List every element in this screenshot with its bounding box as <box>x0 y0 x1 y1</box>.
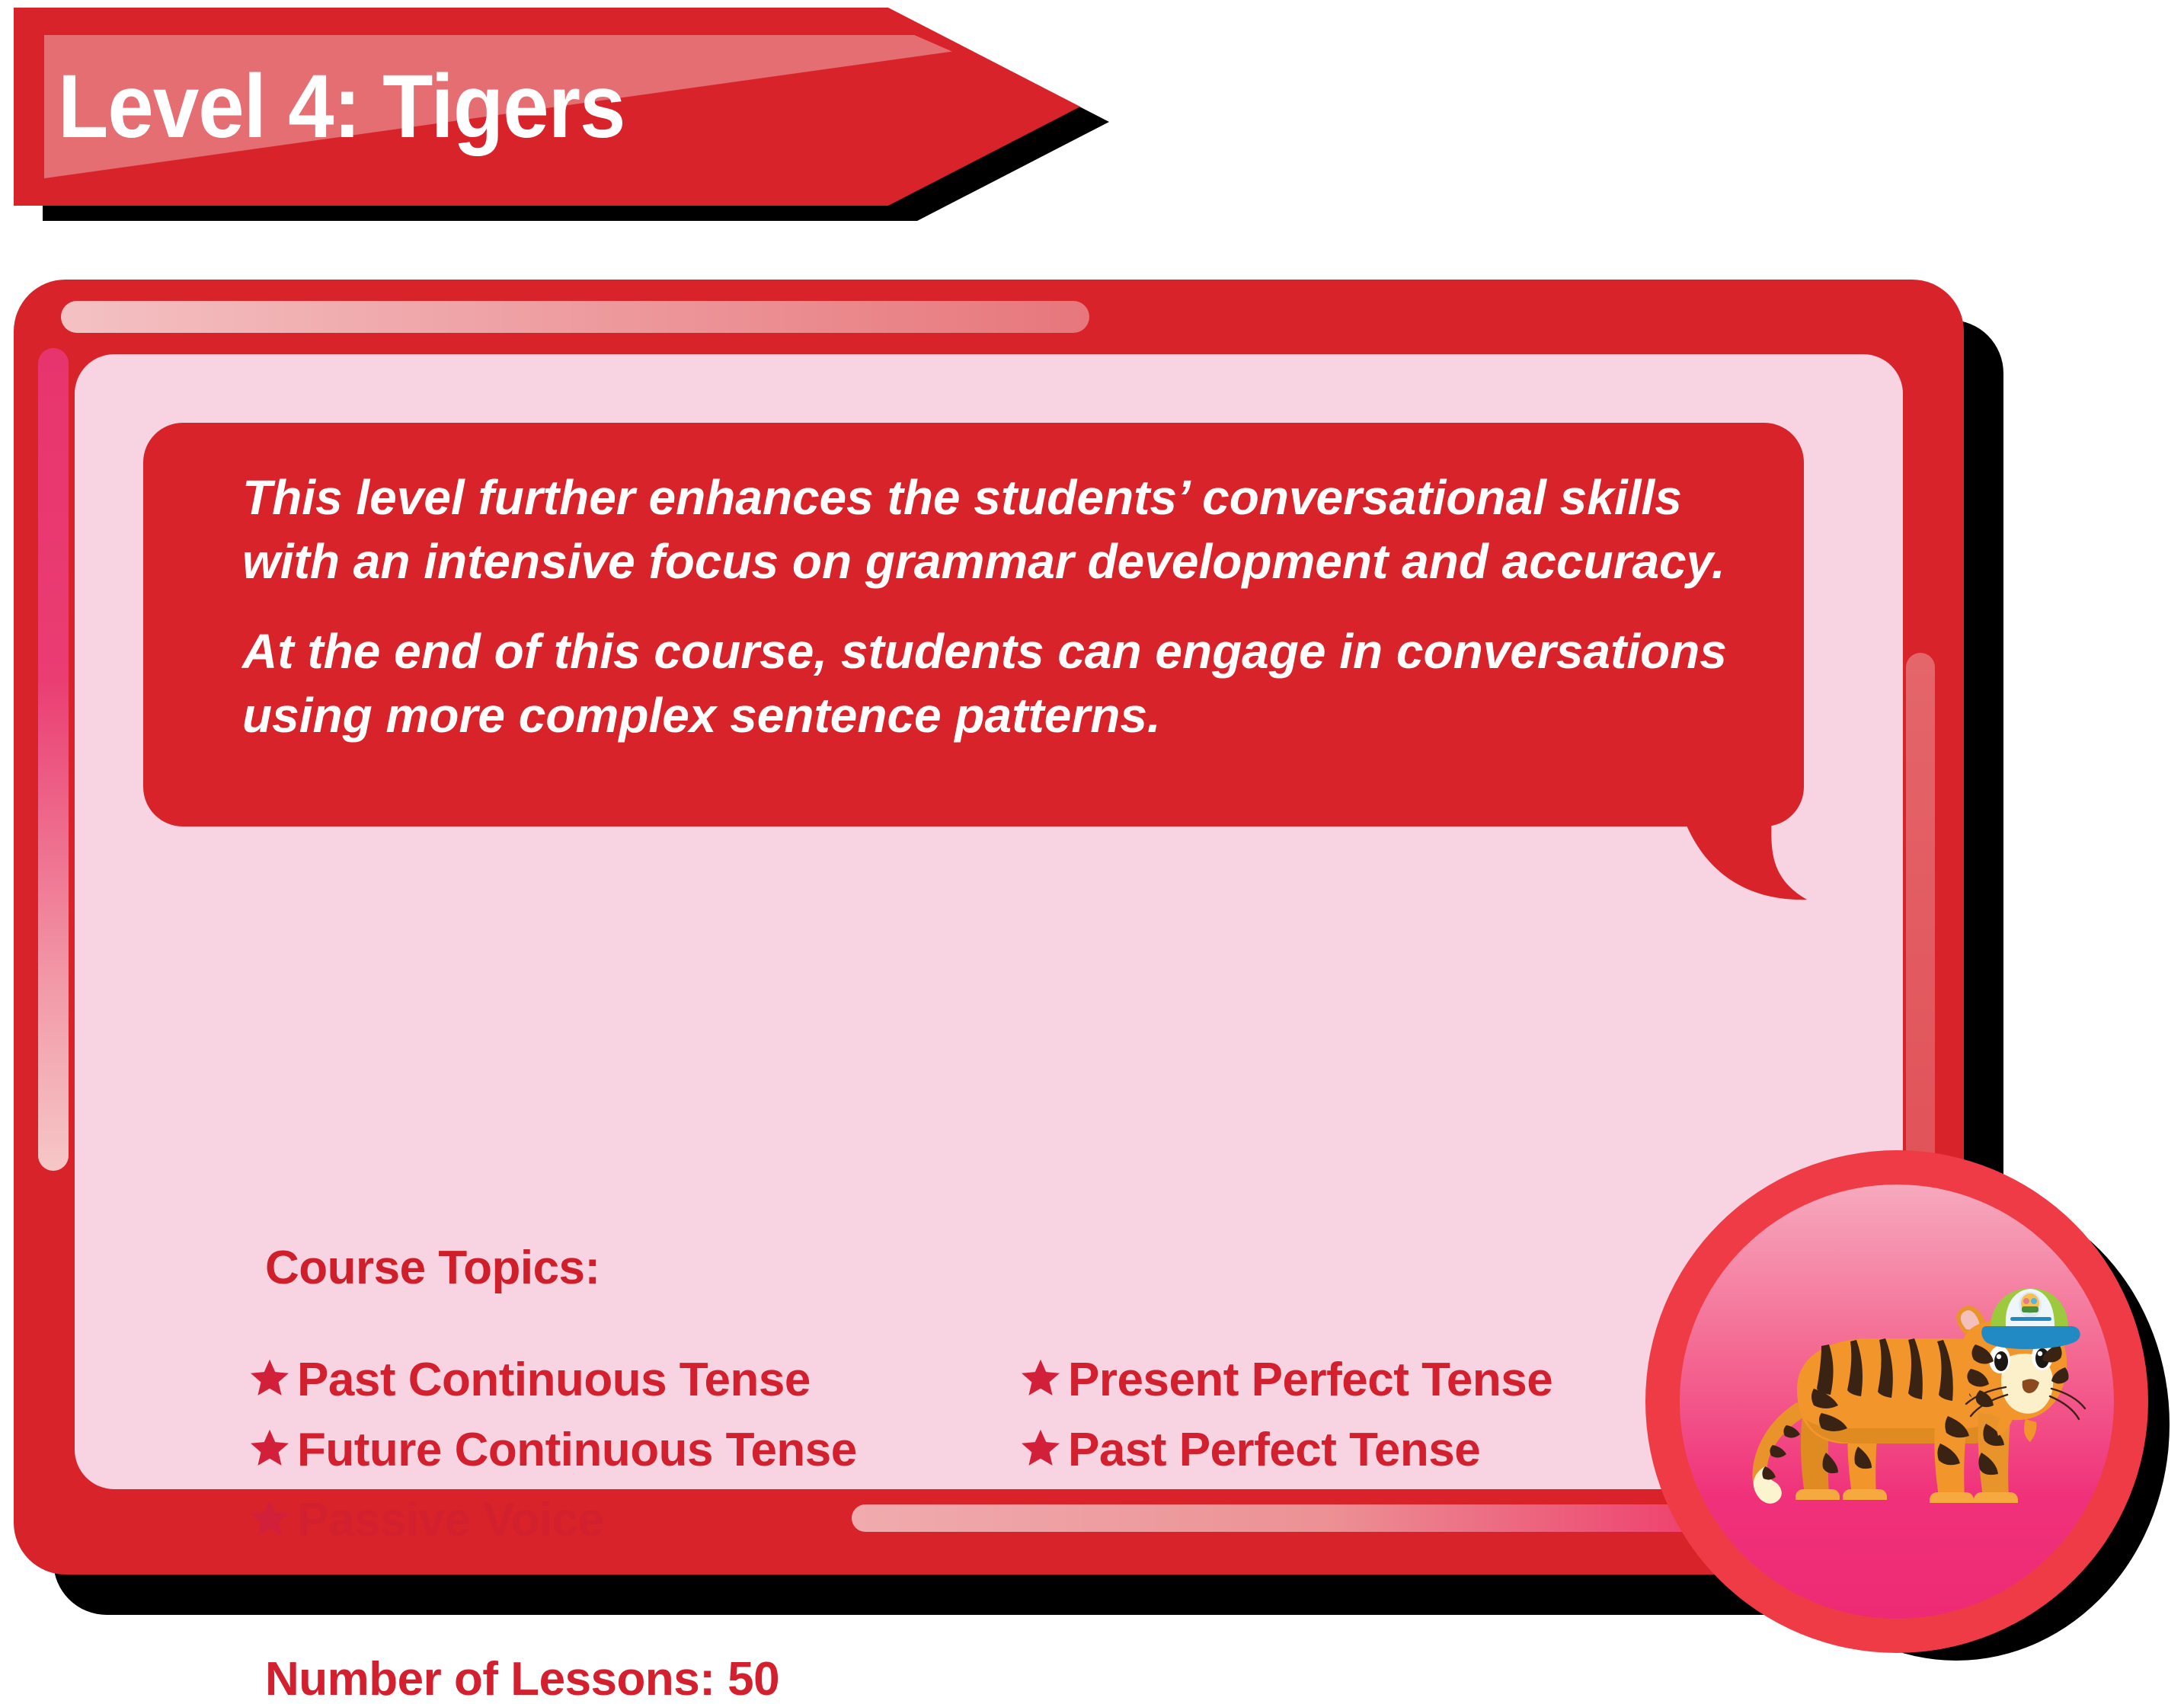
course-topics-heading: Course Topics: <box>265 1241 600 1296</box>
star-icon <box>1019 1357 1062 1404</box>
star-icon <box>1019 1427 1062 1474</box>
topic-label: Past Perfect Tense <box>1068 1422 1480 1479</box>
banner-title: Level 4: Tigers <box>58 46 625 168</box>
star-icon <box>248 1427 291 1474</box>
level-card-page: Level 4: Tigers This level further enhan… <box>0 0 2184 1704</box>
level-banner: Level 4: Tigers <box>14 8 1111 221</box>
star-icon <box>248 1497 291 1544</box>
description-speech-bubble: This level further enhances the students… <box>143 423 1804 826</box>
star-icon <box>248 1357 291 1404</box>
topic-label: Future Continuous Tense <box>297 1422 857 1479</box>
description-paragraph-1: This level further enhances the students… <box>242 465 1751 593</box>
mascot-badge <box>1645 1150 2148 1653</box>
card-gloss-top <box>61 301 1089 333</box>
number-of-lessons: Number of Lessons: 50 <box>265 1652 779 1704</box>
card-inner-panel: This level further enhances the students… <box>75 354 1903 1489</box>
topic-label: Passive Voice <box>297 1492 604 1549</box>
description-paragraph-2: At the end of this course, students can … <box>242 619 1751 747</box>
topic-label: Present Perfect Tense <box>1068 1352 1552 1408</box>
mascot-badge-inner <box>1680 1184 2114 1619</box>
topics-left-column: Past Continuous Tense Future Continuous … <box>248 1352 1071 1562</box>
topic-item: Past Continuous Tense <box>248 1352 1071 1422</box>
topic-item: Passive Voice <box>248 1492 1071 1562</box>
topic-item: Future Continuous Tense <box>248 1422 1071 1492</box>
topic-label: Past Continuous Tense <box>297 1352 811 1408</box>
speech-bubble-tail-icon <box>1680 805 1810 904</box>
tiger-mascot-icon <box>1707 1274 2088 1526</box>
card-gloss-left <box>38 348 69 1171</box>
